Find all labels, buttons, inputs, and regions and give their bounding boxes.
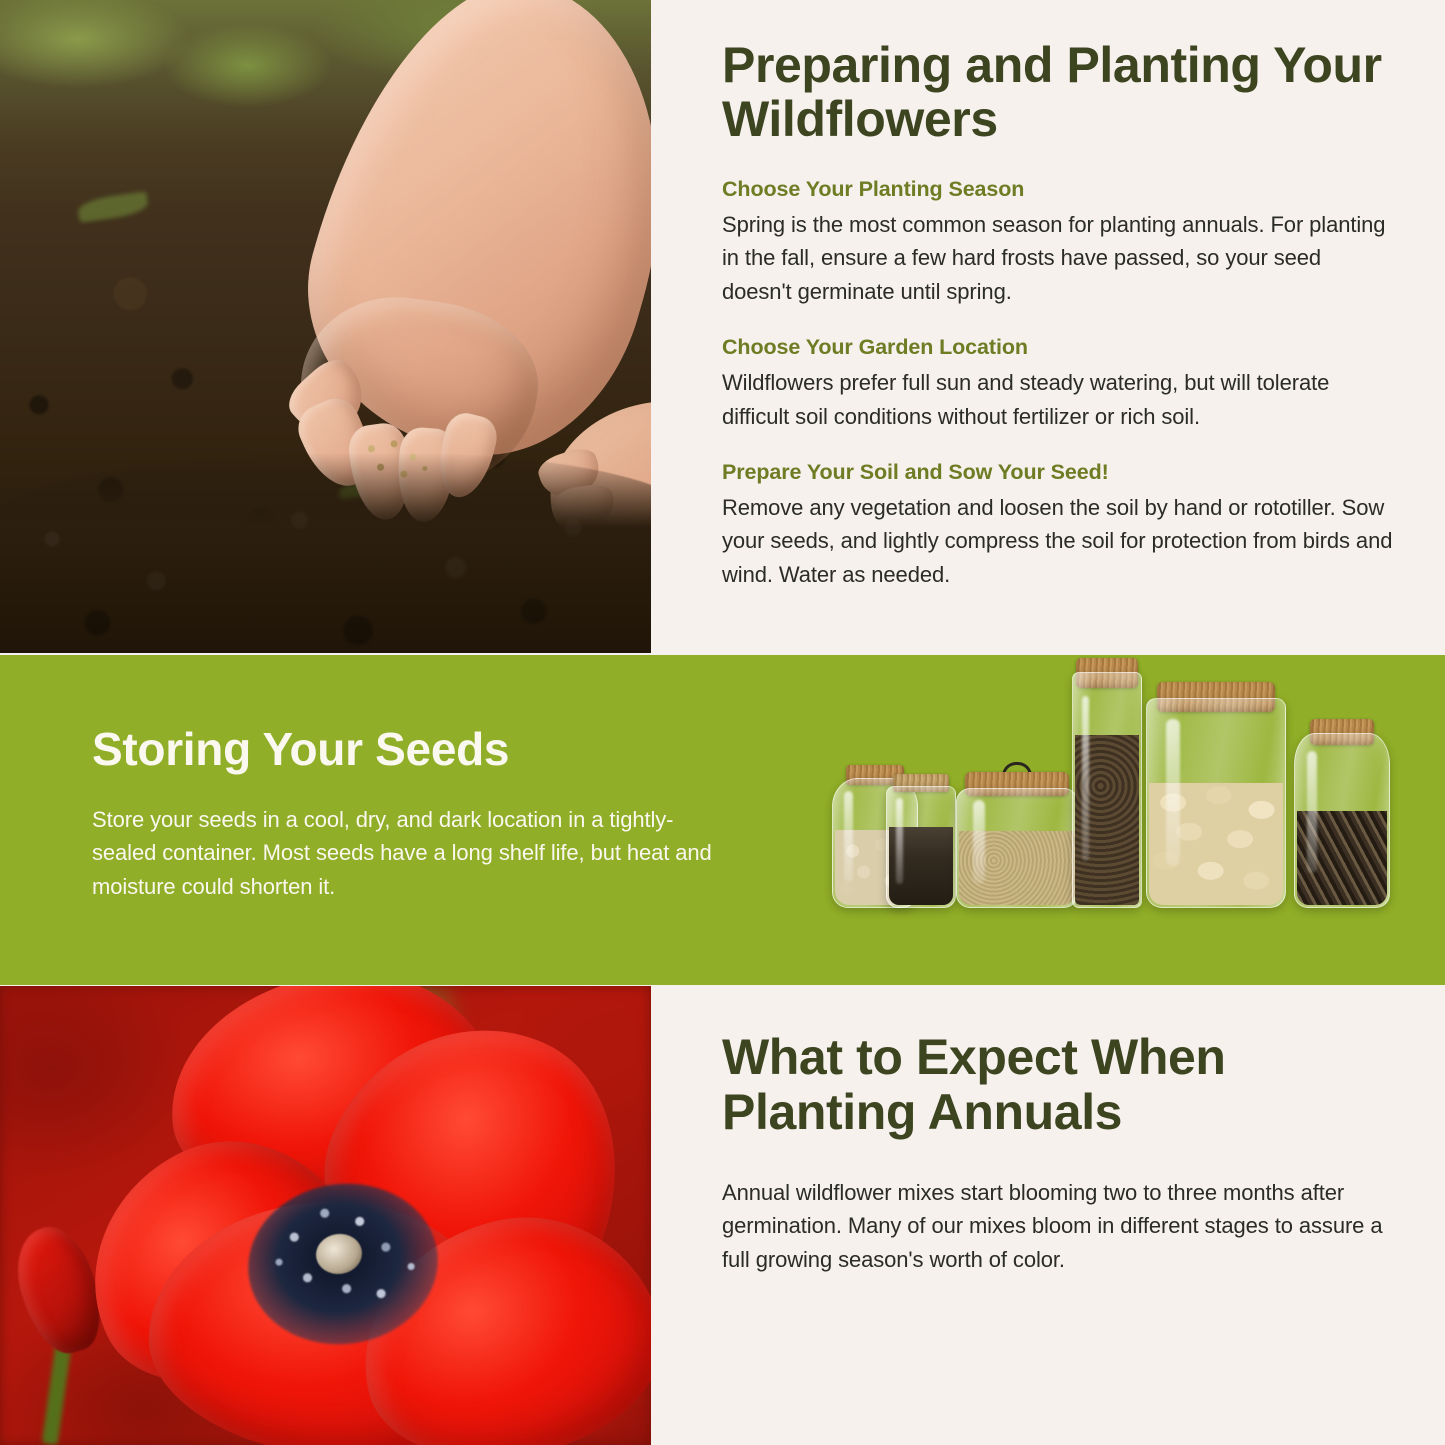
storing-text-column: Storing Your Seeds Store your seeds in a… bbox=[92, 725, 717, 903]
planting-text-column: Preparing and Planting Your Wildflowers … bbox=[722, 38, 1394, 591]
poppy-seed-jar bbox=[886, 786, 956, 908]
storing-title: Storing Your Seeds bbox=[92, 725, 717, 775]
section-preparing-and-planting: Preparing and Planting Your Wildflowers … bbox=[0, 0, 1445, 653]
body-garden-location: Wildflowers prefer full sun and steady w… bbox=[722, 366, 1394, 433]
fine-seed-jar bbox=[956, 788, 1078, 908]
glass-highlight bbox=[1307, 751, 1317, 874]
page-title: Preparing and Planting Your Wildflowers bbox=[722, 38, 1394, 146]
glass-highlight bbox=[1166, 719, 1180, 866]
pumpkin-seed-jar bbox=[1146, 698, 1286, 908]
glass-highlight bbox=[1082, 696, 1089, 861]
glass-highlight bbox=[973, 800, 985, 884]
infographic-page: Preparing and Planting Your Wildflowers … bbox=[0, 0, 1445, 1445]
block-prepare-soil: Prepare Your Soil and Sow Your Seed! Rem… bbox=[722, 459, 1394, 591]
annuals-text-column: What to Expect When Planting Annuals Ann… bbox=[722, 1030, 1394, 1276]
section-what-to-expect: What to Expect When Planting Annuals Ann… bbox=[0, 986, 1445, 1445]
tall-cylinder-seed-jar bbox=[1072, 672, 1142, 908]
sunflower-seed-jar bbox=[1294, 733, 1390, 908]
annuals-body: Annual wildflower mixes start blooming t… bbox=[722, 1176, 1394, 1276]
annuals-title: What to Expect When Planting Annuals bbox=[722, 1030, 1394, 1140]
photo-seed-jars bbox=[826, 665, 1396, 930]
body-prepare-soil: Remove any vegetation and loosen the soi… bbox=[722, 491, 1394, 591]
section-storing-your-seeds: Storing Your Seeds Store your seeds in a… bbox=[0, 655, 1445, 985]
storing-body: Store your seeds in a cool, dry, and dar… bbox=[92, 803, 717, 903]
photo-red-poppy bbox=[0, 986, 651, 1445]
soil-foreground-texture bbox=[0, 463, 651, 653]
subheading-garden-location: Choose Your Garden Location bbox=[722, 334, 1394, 361]
glass-highlight bbox=[896, 798, 903, 883]
glass-highlight bbox=[844, 791, 853, 882]
subheading-prepare-soil: Prepare Your Soil and Sow Your Seed! bbox=[722, 459, 1394, 486]
block-planting-season: Choose Your Planting Season Spring is th… bbox=[722, 176, 1394, 308]
photo-hands-sowing-seeds bbox=[0, 0, 651, 653]
body-planting-season: Spring is the most common season for pla… bbox=[722, 208, 1394, 308]
subheading-planting-season: Choose Your Planting Season bbox=[722, 176, 1394, 203]
block-garden-location: Choose Your Garden Location Wildflowers … bbox=[722, 334, 1394, 433]
